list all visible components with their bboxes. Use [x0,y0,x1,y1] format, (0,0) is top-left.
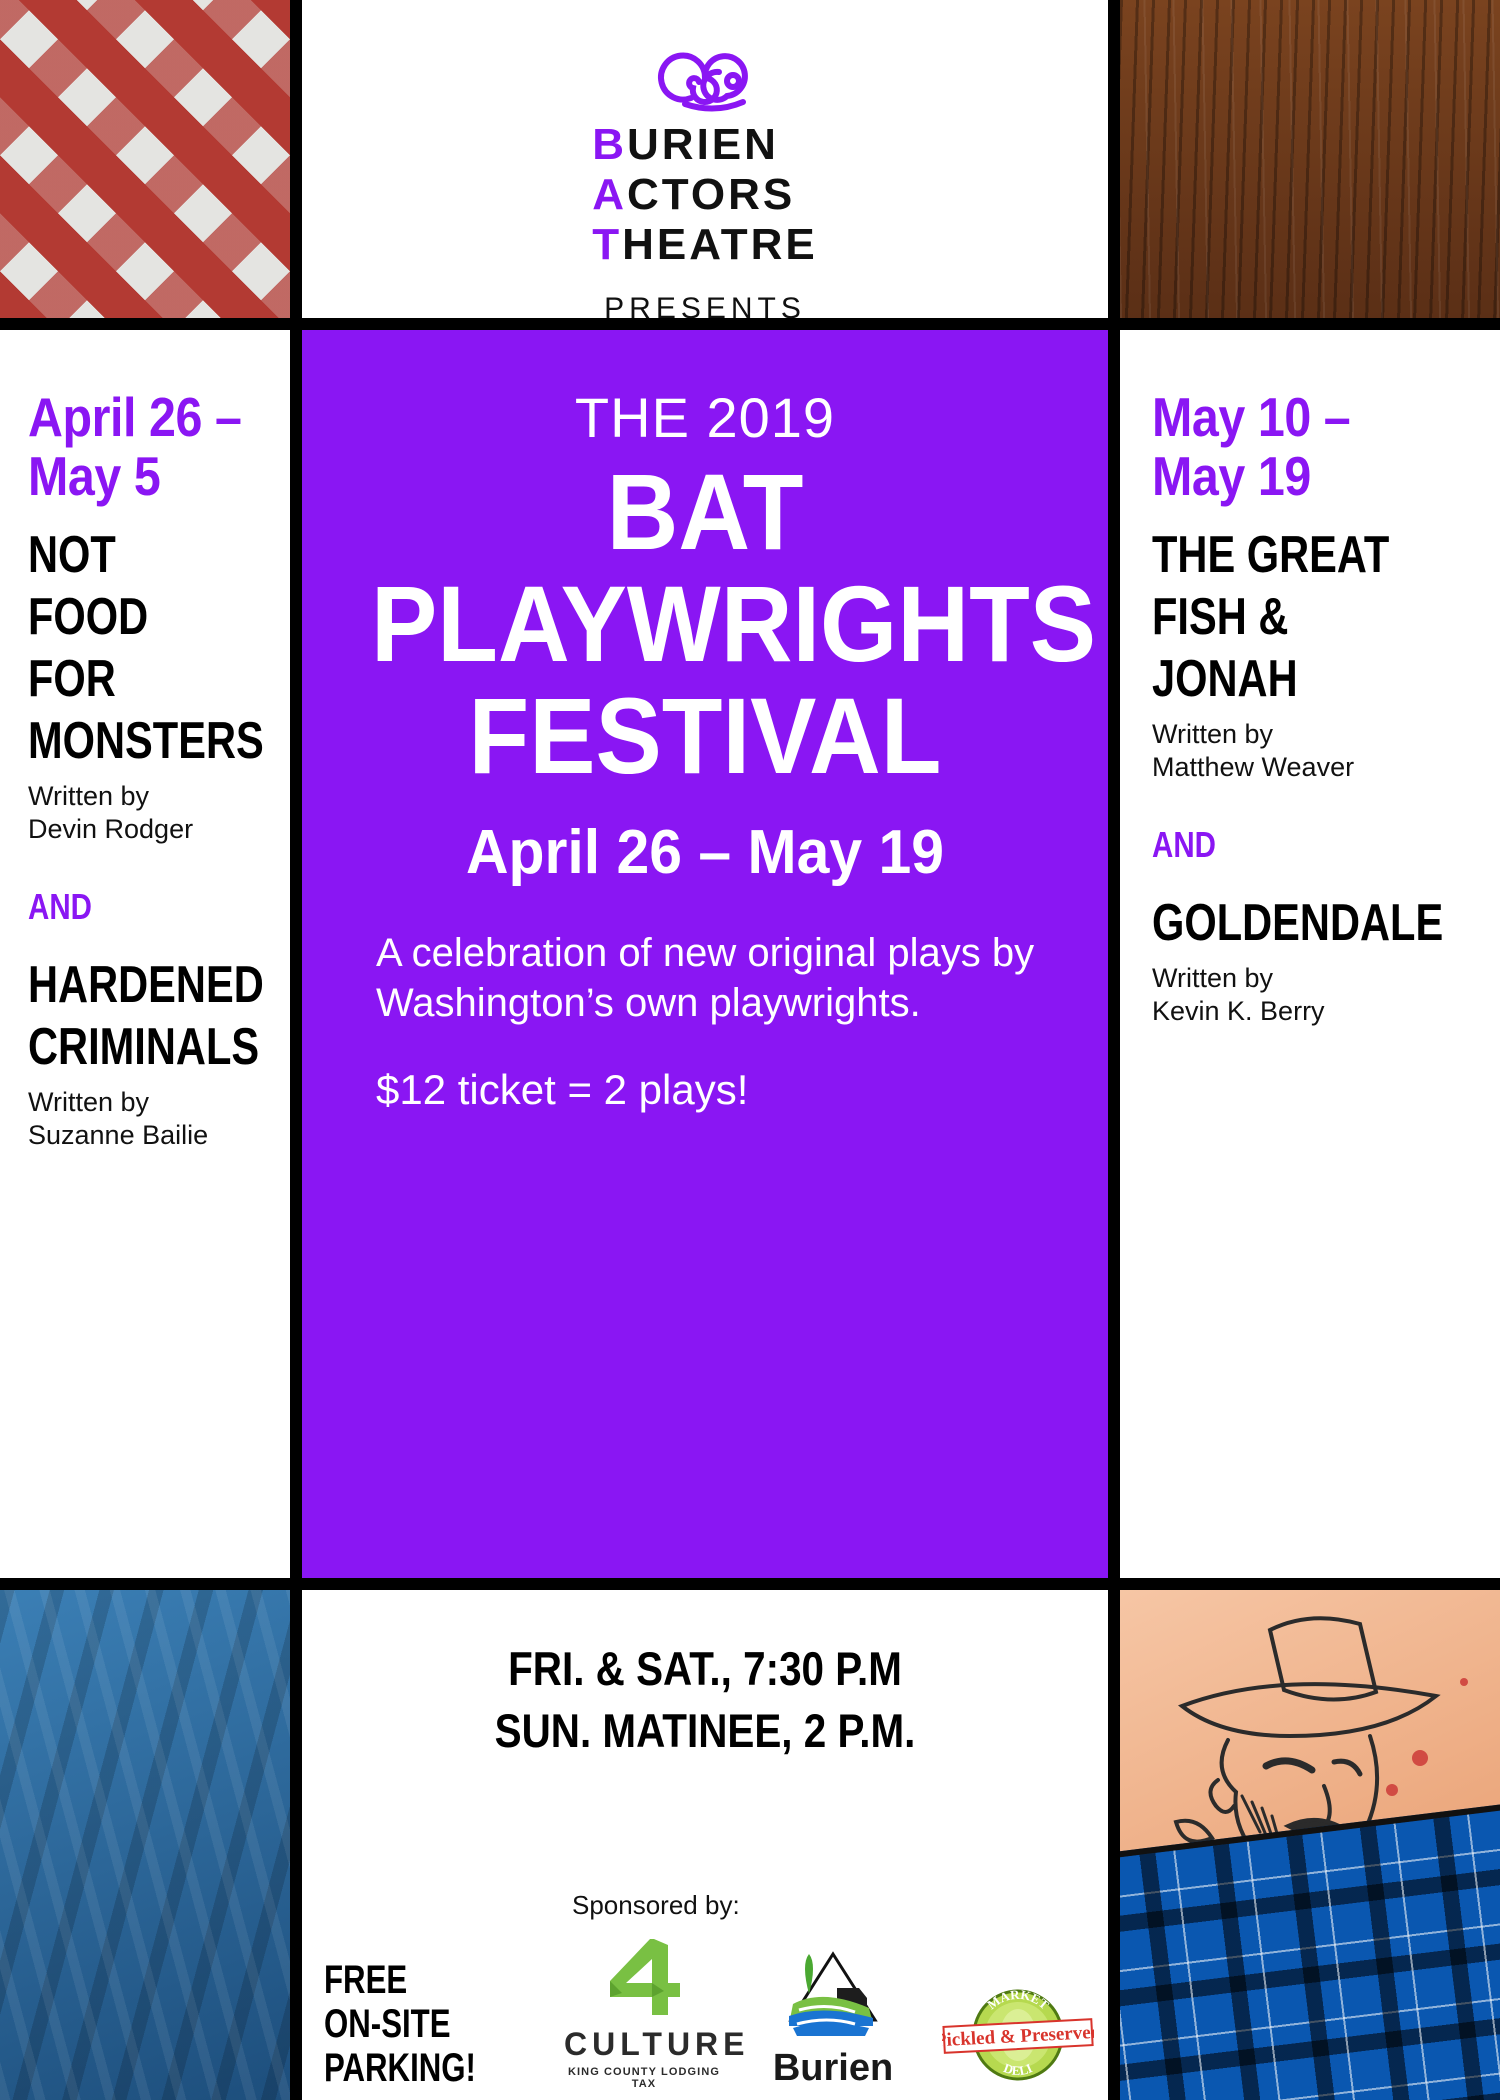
parking-line-1: FREE [324,1958,472,2002]
showtimes-block: FRI. & SAT., 7:30 P.M SUN. MATINEE, 2 P.… [302,1590,1108,1762]
artwork-keys-on-gingham [0,0,290,318]
burien-mountain-icon [779,1948,887,2044]
parking-line-2: ON-SITE [324,2002,472,2046]
presents-label: PRESENTS [302,292,1108,318]
right-play1-credit: Written by Matthew Weaver [1152,718,1482,784]
showtime-line-1: FRI. & SAT., 7:30 P.M [358,1638,1051,1700]
underwater-background [0,1590,290,2100]
4culture-wordmark: CULTURE [564,2026,724,2063]
festival-description: A celebration of new original plays by W… [376,928,1068,1028]
4culture-subtitle: KING COUNTY LODGING TAX [564,2066,724,2090]
plaid-sleeve [1120,1802,1500,2100]
sponsor-burien[interactable]: Burien [758,1948,908,2090]
bat-swirl-icon [645,34,765,114]
4culture-numeral-icon [602,1935,686,2019]
left-and-label: AND [28,886,228,928]
sponsored-by-label: Sponsored by: [572,1890,1108,1921]
artwork-cowboy-tattoo [1120,1590,1500,2100]
left-play2-credit: Written by Suzanne Bailie [28,1086,272,1152]
logo-wordmark: BURIEN ACTORS THEATRE [592,120,818,270]
right-play1-title: THE GREAT FISH & JONAH [1152,524,1416,710]
left-play1-title: NOT FOOD FOR MONSTERS [28,524,223,772]
sponsor-4culture[interactable]: CULTURE KING COUNTY LODGING TAX [564,1935,724,2090]
showtimes-and-sponsors-panel: FRI. & SAT., 7:30 P.M SUN. MATINEE, 2 P.… [302,1590,1108,2100]
festival-price: $12 ticket = 2 plays! [376,1064,1068,1116]
poster-root: BURIEN ACTORS THEATRE PRESENTS [0,0,1500,2100]
free-parking-block: FREE ON-SITE PARKING! [302,1958,514,2090]
pickled-preserved-badge-icon: MARKET DELI Pickled & Preserved [942,1985,1094,2085]
logo-line-burien: BURIEN [592,120,818,170]
parking-line-3: PARKING! [324,2046,472,2090]
wood-grain-background [1120,0,1500,318]
festival-title-bat: BAT [371,456,1039,568]
right-and-label: AND [1152,824,1423,866]
artwork-bloody-stapler [1120,0,1500,318]
left-dates: April 26 – May 5 [28,388,243,506]
sponsor-pickled-preserved[interactable]: MARKET DELI Pickled & Preserved [942,1985,1107,2090]
left-play2-title: HARDENED CRIMINALS [28,954,223,1078]
right-play2-title: GOLDENDALE [1152,892,1416,954]
right-play-column: May 10 – May 19 THE GREAT FISH & JONAH W… [1120,330,1500,1578]
left-play-column: April 26 – May 5 NOT FOOD FOR MONSTERS W… [0,330,290,1578]
left-play1-credit: Written by Devin Rodger [28,780,272,846]
festival-date-range: April 26 – May 19 [360,818,1050,888]
festival-title-festival: FESTIVAL [371,680,1039,792]
right-play2-credit: Written by Kevin K. Berry [1152,962,1482,1028]
festival-year: THE 2019 [342,386,1068,450]
center-feature-panel: THE 2019 BAT PLAYWRIGHTS FESTIVAL April … [302,330,1108,1578]
showtime-line-2: SUN. MATINEE, 2 P.M. [358,1700,1051,1762]
logo-line-actors: ACTORS [592,170,818,220]
logo-panel: BURIEN ACTORS THEATRE PRESENTS [302,0,1108,318]
burien-wordmark: Burien [758,2047,908,2090]
right-dates: May 10 – May 19 [1152,388,1442,506]
festival-title-playwrights: PLAYWRIGHTS [371,568,1039,680]
logo-line-theatre: THEATRE [592,220,818,270]
sponsors-block: Sponsored by: CULTURE KING COUNTY LODGIN… [514,1890,1108,2090]
gingham-pattern [0,0,290,318]
artwork-fish-tail [0,1590,290,2100]
